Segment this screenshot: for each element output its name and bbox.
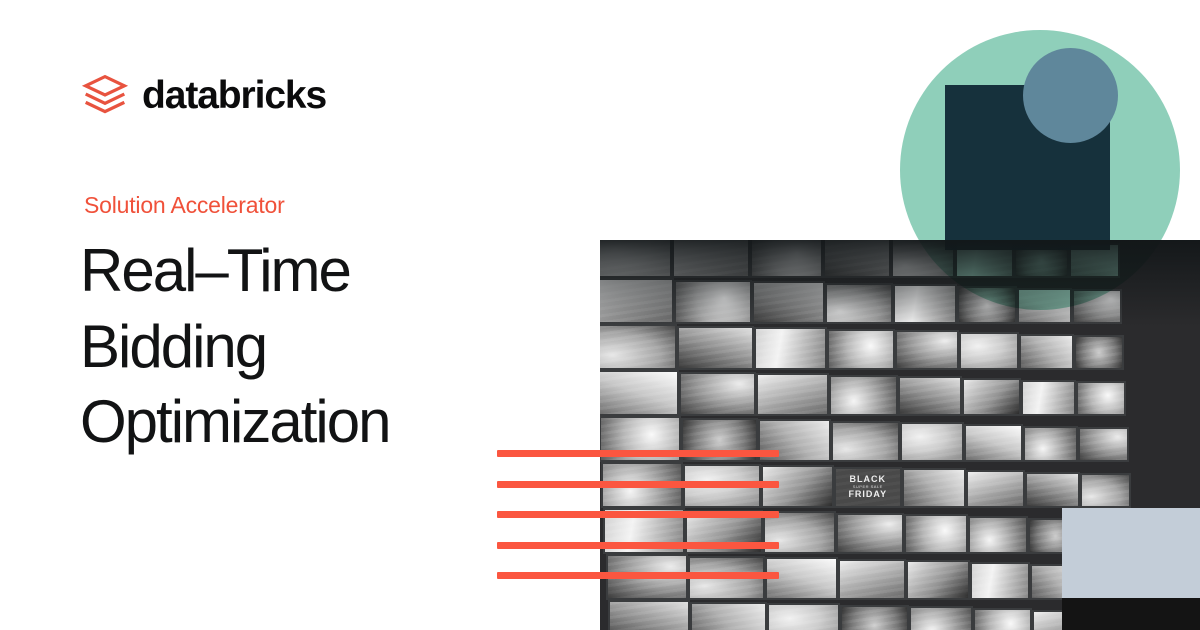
brand-wordmark: databricks [142,76,326,115]
brand-lockup: databricks [82,72,326,118]
photo-wall-cell [600,324,677,370]
photo-wall-cell [756,373,829,416]
photo-wall-cell [906,560,970,600]
photo-wall-cell [823,240,891,278]
photo-wall-cell [968,516,1027,554]
photo-wall-cell [829,375,897,416]
photo-wall-cell [767,603,840,630]
photo-wall-cell [1080,473,1130,508]
photo-wall-cell [825,283,893,324]
photo-wall-cell [959,332,1018,370]
photo-wall-cell [600,240,672,278]
photo-wall-cell [1025,472,1080,508]
photo-wall-cell [600,278,674,324]
photo-wall-cell [600,370,679,416]
photo-wall-cell [754,327,827,370]
photo-wall-row [600,370,1200,416]
accent-line-1 [497,450,779,457]
photo-wall-cell [970,562,1029,600]
photo-wall-cell [838,559,906,600]
photo-wall-row [600,324,1200,370]
photo-wall-cell [909,606,973,630]
photo-wall-cell [891,240,955,278]
dark-footer-band [1062,598,1200,630]
photo-wall-cell [1014,242,1069,278]
page-title-line-1: Real–Time [80,233,520,309]
slate-circle-shape [1023,48,1118,143]
photo-wall-cell: BLACKSUPER SALEFRIDAY [834,467,902,508]
photo-wall-cell [679,372,756,416]
accent-line-5 [497,572,779,579]
photo-wall-cell [752,281,825,324]
photo-wall-cell [1076,381,1126,416]
page-title-line-3: Optimization [80,384,520,460]
photo-wall-cell [1078,427,1128,462]
photo-wall-cell [840,605,908,630]
photo-wall-cell [690,602,767,630]
databricks-stacked-layers-icon [82,72,128,118]
photo-wall-cell [962,378,1021,416]
photo-wall-cell [1019,334,1074,370]
photo-wall-cell [973,608,1032,630]
photo-wall-cell [904,514,968,554]
photo-wall-cell [1023,426,1078,462]
photo-wall-cell [898,376,962,416]
accent-line-3 [497,511,779,518]
photo-wall-cell [608,600,690,630]
photo-wall-cell [1017,288,1072,324]
photo-wall-row [600,240,1200,278]
photo-wall-cell [900,422,964,462]
photo-wall-cell [895,330,959,370]
photo-wall-cell [1074,335,1124,370]
photo-wall-cell [1069,243,1119,278]
black-friday-panel: BLACKSUPER SALEFRIDAY [836,469,900,506]
photo-wall-cell [955,240,1014,278]
photo-wall-cell [902,468,966,508]
photo-wall-cell [831,421,899,462]
photo-wall-cell [836,513,904,554]
photo-wall-cell [1072,289,1122,324]
page-title-line-2: Bidding [80,309,520,385]
accent-line-2 [497,481,779,488]
photo-wall-cell [957,286,1016,324]
pale-panel-shape [1062,508,1200,598]
black-friday-bottom-text: FRIDAY [848,490,887,499]
poster-canvas: BLACKSUPER SALEFRIDAY databricks Solutio… [0,0,1200,630]
eyebrow-label: Solution Accelerator [84,192,285,220]
photo-wall-cell [674,280,751,324]
photo-wall-cell [1021,380,1076,416]
page-title: Real–TimeBiddingOptimization [80,233,520,460]
photo-wall-cell [672,240,749,278]
photo-wall-row [600,278,1200,324]
black-friday-top-text: BLACK [850,475,887,484]
accent-line-4 [497,542,779,549]
photo-wall-cell [964,424,1023,462]
photo-wall-cell [893,284,957,324]
photo-wall-cell [827,329,895,370]
photo-wall-cell [750,240,823,278]
black-friday-mid-text: SUPER SALE [853,485,883,489]
photo-wall-cell [966,470,1025,508]
photo-wall-cell [677,326,754,370]
